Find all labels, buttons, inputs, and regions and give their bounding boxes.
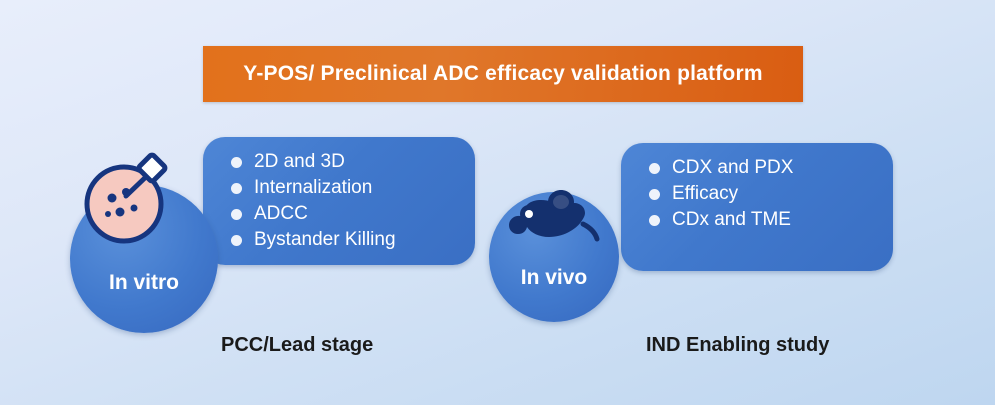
- bullet-dot-icon: [231, 209, 242, 220]
- list-item: Bystander Killing: [231, 227, 475, 253]
- bullet-dot-icon: [649, 189, 660, 200]
- bullet-dot-icon: [231, 183, 242, 194]
- list-item: CDx and TME: [649, 207, 893, 233]
- bullet-dot-icon: [231, 235, 242, 246]
- in-vitro-label: In vitro: [109, 271, 179, 295]
- in-vivo-bullet-list: CDX and PDX Efficacy CDx and TME: [621, 143, 893, 233]
- list-item: 2D and 3D: [231, 149, 475, 175]
- bullet-dot-icon: [649, 163, 660, 174]
- in-vitro-panel: 2D and 3D Internalization ADCC Bystander…: [203, 137, 475, 265]
- mouse-icon: [505, 178, 601, 254]
- list-item: Internalization: [231, 175, 475, 201]
- in-vivo-label: In vivo: [521, 266, 588, 290]
- list-item: CDX and PDX: [649, 155, 893, 181]
- in-vitro-bullet-list: 2D and 3D Internalization ADCC Bystander…: [203, 137, 475, 253]
- right-caption: IND Enabling study: [646, 334, 829, 357]
- list-item-label: ADCC: [254, 201, 308, 227]
- bullet-dot-icon: [649, 215, 660, 226]
- list-item-label: CDX and PDX: [672, 155, 793, 181]
- list-item-label: Bystander Killing: [254, 227, 396, 253]
- diagram-canvas: Y-POS/ Preclinical ADC efficacy validati…: [0, 0, 995, 405]
- bullet-dot-icon: [231, 157, 242, 168]
- list-item-label: 2D and 3D: [254, 149, 345, 175]
- title-text: Y-POS/ Preclinical ADC efficacy validati…: [243, 62, 762, 86]
- list-item-label: CDx and TME: [672, 207, 791, 233]
- in-vivo-panel: CDX and PDX Efficacy CDx and TME: [621, 143, 893, 271]
- list-item: Efficacy: [649, 181, 893, 207]
- list-item-label: Internalization: [254, 175, 372, 201]
- petri-dish-pipette-icon: [76, 146, 180, 250]
- list-item-label: Efficacy: [672, 181, 738, 207]
- title-banner: Y-POS/ Preclinical ADC efficacy validati…: [203, 46, 803, 102]
- left-caption: PCC/Lead stage: [221, 334, 373, 357]
- list-item: ADCC: [231, 201, 475, 227]
